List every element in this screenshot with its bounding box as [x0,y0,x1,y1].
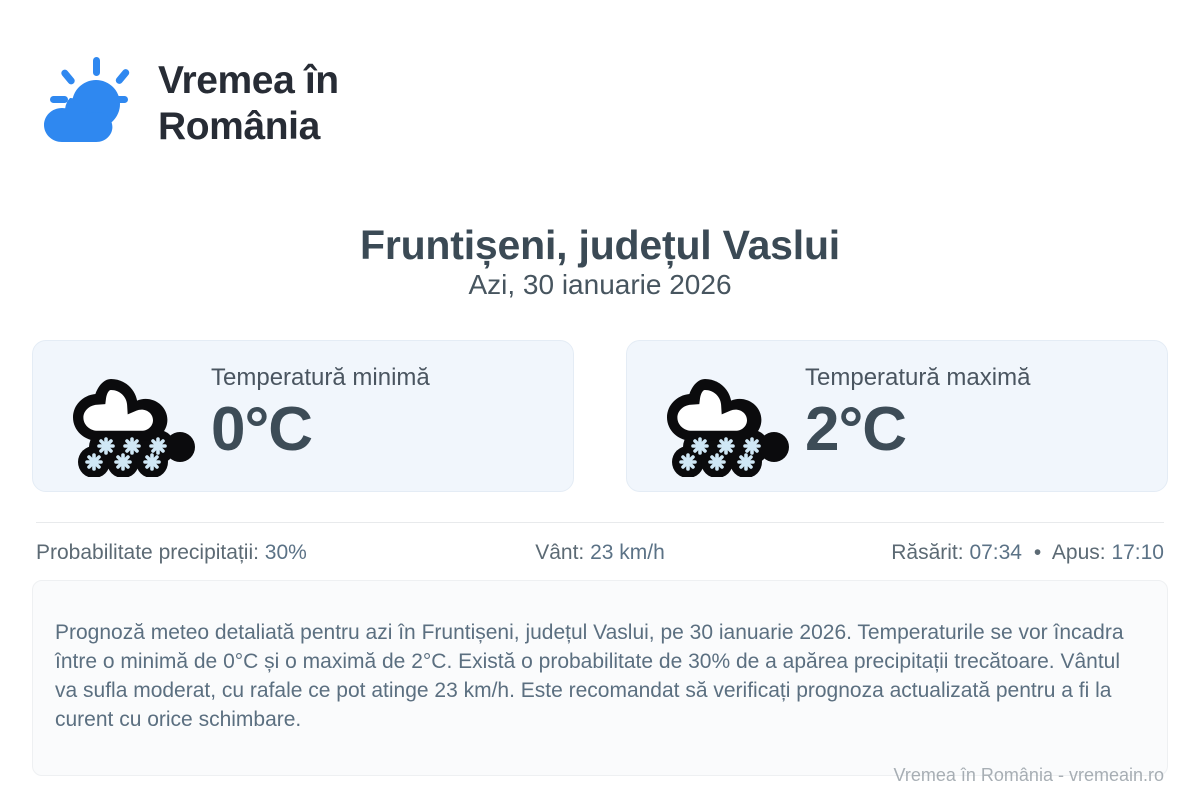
forecast-description-panel: Prognoză meteo detaliată pentru azi în F… [32,580,1168,776]
footer-credit: Vremea în România - vremeain.ro [894,762,1164,788]
wind-stat: Vânt: 23 km/h [412,538,788,568]
temperature-max-body: Temperatură maximă 2°C [805,363,1030,469]
temperature-min-label: Temperatură minimă [211,363,430,393]
sunrise-value: 07:34 [969,541,1022,564]
temperature-max-value: 2°C [805,395,1030,465]
stats-row: Probabilitate precipitații: 30% Vânt: 23… [36,538,1164,568]
temperature-max-label: Temperatură maximă [805,363,1030,393]
page-title: Fruntișeni, județul Vaslui [0,219,1200,271]
precipitation-label: Probabilitate precipitații: [36,541,259,564]
snow-cloud-icon [63,355,195,477]
temperature-max-card: Temperatură maximă 2°C [626,340,1168,492]
brand-name: Vremea în România [158,58,339,150]
sun-behind-cloud-icon [36,52,140,156]
weather-page: Vremea în România Fruntișeni, județul Va… [0,0,1200,800]
temperature-cards: Temperatură minimă 0°C [32,340,1168,492]
precipitation-stat: Probabilitate precipitații: 30% [36,538,412,568]
sunset-value: 17:10 [1111,541,1164,564]
sun-times-stat: Răsărit: 07:34 • Apus: 17:10 [788,538,1164,568]
forecast-description-text: Prognoză meteo detaliată pentru azi în F… [55,618,1145,734]
stats-divider [36,522,1164,523]
wind-label: Vânt: [535,541,584,564]
sunrise-label: Răsărit: [891,541,963,564]
temperature-min-card: Temperatură minimă 0°C [32,340,574,492]
wind-value: 23 km/h [590,541,665,564]
date-subtitle: Azi, 30 ianuarie 2026 [0,266,1200,304]
sun-times-separator: • [1028,541,1047,564]
precipitation-value: 30% [265,541,307,564]
brand-header: Vremea în România [36,52,339,156]
sunset-label: Apus: [1052,541,1106,564]
temperature-min-value: 0°C [211,395,430,465]
temperature-min-body: Temperatură minimă 0°C [211,363,430,469]
snow-cloud-icon [657,355,789,477]
